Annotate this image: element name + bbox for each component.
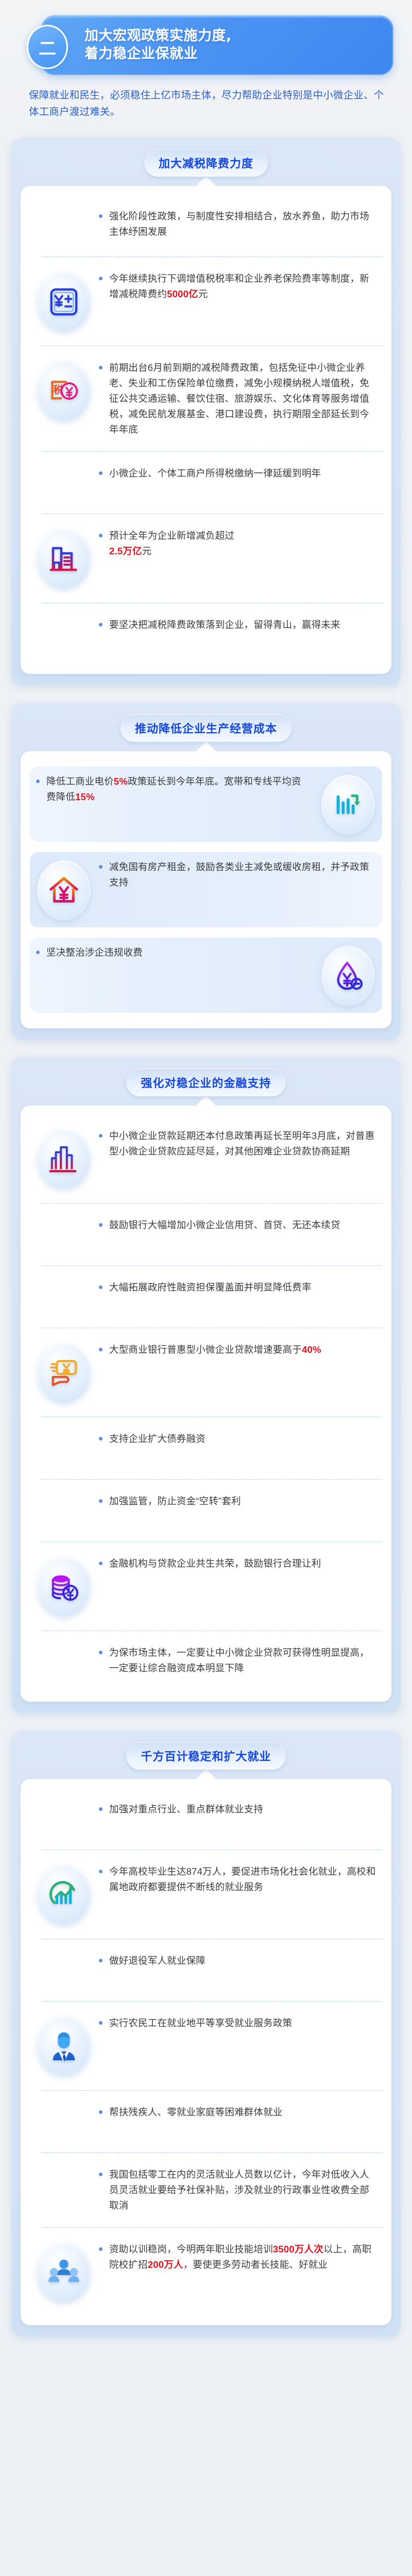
icon-slot (30, 1864, 98, 1925)
section-card: 中小微企业贷款延期还本付息政策再延长至明年3月底，对普惠型小微企业贷款应延尽延，… (21, 1106, 391, 1702)
item-divider (41, 1265, 382, 1266)
tax-yuan-icon: 税 (37, 361, 91, 421)
bullet-text: 要坚决把减税降费政策落到企业，留得青山，赢得未来 (98, 617, 378, 633)
icon-slot (30, 1645, 98, 1679)
growth-arrow-chart-icon (37, 1865, 91, 1925)
highlight-value: 15% (75, 791, 95, 802)
city-buildings-icon (37, 1129, 91, 1189)
icon-slot (30, 859, 98, 920)
bullet-text: 帮扶残疾人、零就业家庭等困难群体就业 (98, 2105, 378, 2120)
item-divider (41, 1939, 382, 1939)
icon-slot (30, 1280, 98, 1314)
icon-slot (30, 1802, 98, 1836)
icon-slot (30, 1494, 98, 1528)
bullet-text: 支持企业扩大债券融资 (98, 1431, 378, 1447)
section-title: 强化对稳企业的金融支持 (126, 1069, 285, 1096)
list-item: 税 前期出台6月前到期的减税降费政策，包括免征中小微企业养老、失业和工伤保险单位… (30, 353, 382, 445)
icon-slot (30, 1128, 98, 1189)
bullet-text-part: 降低工商业电价 (46, 776, 114, 787)
icon-slot (30, 528, 98, 589)
page-title-line1: 加大宏观政策实施力度, (84, 27, 232, 45)
bullet-text: 今年继续执行下调增值税税率和企业养老保险费率等制度，新增减税降费约5000亿元 (98, 271, 378, 302)
list-item: 坚决整治涉企违规收费 (30, 938, 382, 1013)
item-divider (41, 603, 382, 603)
highlight-value: 200万人 (148, 2259, 183, 2270)
droplet-yuan-minus-icon (321, 946, 375, 1006)
list-item: 今年高校毕业生达874万人，要促进市场化社会化就业，高校和属地政府都要提供不断线… (30, 1857, 382, 1932)
section-title: 千方百计稳定和扩大就业 (126, 1742, 285, 1770)
icon-slot (30, 2242, 98, 2302)
bullet-text-main: 大型商业银行普惠型小微企业贷款增速要高于 (109, 1344, 302, 1355)
building-chart-icon (37, 529, 91, 589)
bullet-text: 预计全年为企业新增减负超过2.5万亿元 (98, 528, 378, 559)
bullet-text: 今年高校毕业生达874万人，要促进市场化社会化就业，高校和属地政府都要提供不断线… (98, 1864, 378, 1895)
list-item: 大型商业银行普惠型小微企业贷款增速要高于40% (30, 1335, 382, 1410)
list-item: 中小微企业贷款延期还本付息政策再延长至明年3月底，对普惠型小微企业贷款应延尽延，… (30, 1121, 382, 1196)
card-hand-yuan-icon (37, 1343, 91, 1403)
section-card: 加强对重点行业、重点群体就业支持 (21, 1779, 391, 2325)
icon-slot (30, 271, 98, 332)
icon-slot (30, 2105, 98, 2139)
bullet-text: 强化阶段性政策，与制度性安排相结合，放水养鱼，助力市场主体纾困发展 (98, 209, 378, 240)
item-divider (41, 1850, 382, 1850)
icon-slot (30, 1953, 98, 1987)
list-item: 帮扶残疾人、零就业家庭等困难群体就业 (30, 2097, 382, 2146)
bullet-text: 大型商业银行普惠型小微企业贷款增速要高于40% (98, 1342, 378, 1358)
icon-slot: 税 (30, 360, 98, 421)
item-divider (41, 2153, 382, 2153)
bullet-text-tail: 元 (142, 546, 152, 556)
list-item: 降低工商业电价5%政策延长到今年年底。宽带和专线平均资费降低15% (30, 767, 382, 842)
item-divider (41, 1328, 382, 1328)
header-banner: 加大宏观政策实施力度, 着力稳企业保就业 (41, 15, 393, 75)
bullet-text: 实行农民工在就业地平等享受就业服务政策 (98, 2015, 378, 2031)
intro-paragraph: 保障就业和民生，必须稳住上亿市场主体，尽力帮助企业特别是中小微企业、个体工商户渡… (29, 88, 388, 120)
bullet-text: 我国包括零工在内的灵活就业人员数以亿计，今年对低收入人员灵活就业要给予社保补贴，… (98, 2167, 378, 2213)
list-item: 小微企业、个体工商户所得税缴纳一律延缓到明年 (30, 459, 382, 507)
page-title: 加大宏观政策实施力度, 着力稳企业保就业 (84, 27, 232, 63)
highlight-value: 3500万人次 (273, 2244, 323, 2255)
icon-slot (30, 1342, 98, 1403)
bullet-text: 大幅拓展政府性融资担保覆盖面并明显降低费率 (98, 1280, 378, 1295)
icon-slot (30, 2167, 98, 2201)
section-title: 加大减税降费力度 (144, 149, 268, 177)
page-header: 加大宏观政策实施力度, 着力稳企业保就业 二 (12, 9, 402, 76)
icon-slot (30, 466, 98, 500)
highlight-value: 5000亿 (167, 289, 198, 299)
icon-slot (30, 1431, 98, 1465)
bullet-text-main: 今年继续执行下调增值税税率和企业养老保险费率等制度，新增减税降费约 (109, 273, 369, 299)
icon-slot (30, 209, 98, 243)
bullet-text: 减免国有房产租金，鼓励各类业主减免或缓收房租，并予政策支持 (98, 859, 378, 890)
list-item: 资助以训稳岗，今明两年职业技能培训3500万人次以上，高职院校扩招200万人，要… (30, 2234, 382, 2310)
bullet-text: 坚决整治涉企违规收费 (35, 945, 310, 960)
bar-chart-down-icon (321, 775, 375, 835)
item-divider (41, 1417, 382, 1417)
section-tax-reduction: 加大减税降费力度 强化阶段性政策，与制度性安排相结合，放水养鱼，助力市场主体纾困… (11, 138, 401, 685)
list-item: 为保市场主体，一定要让中小微企业贷款可获得性明显提高，一定要让综合融资成本明显下… (30, 1638, 382, 1686)
bullet-text: 小微企业、个体工商户所得税缴纳一律延缓到明年 (98, 466, 378, 481)
highlight-value: 40% (302, 1344, 321, 1355)
bullet-text-tail: 元 (198, 289, 208, 299)
icon-slot (314, 774, 382, 835)
list-item: 加强监管，防止资金“空转”套利 (30, 1486, 382, 1535)
list-item: 鼓励银行大幅增加小微企业信用贷、首贷、无还本续贷 (30, 1210, 382, 1259)
list-item: 大幅拓展政府性融资担保覆盖面并明显降低费率 (30, 1273, 382, 1321)
list-item: 预计全年为企业新增减负超过2.5万亿元 (30, 521, 382, 596)
highlight-value: 5% (114, 776, 128, 787)
bullet-text: 加强对重点行业、重点群体就业支持 (98, 1802, 378, 1817)
item-divider (41, 257, 382, 257)
item-divider (41, 1479, 382, 1480)
bullet-text: 为保市场主体，一定要让中小微企业贷款可获得性明显提高，一定要让综合融资成本明显下… (98, 1645, 378, 1676)
highlight-value: 2.5万亿 (109, 546, 142, 556)
item-divider (41, 346, 382, 346)
bullet-text: 中小微企业贷款延期还本付息政策再延长至明年3月底，对普惠型小微企业贷款应延尽延，… (98, 1128, 378, 1159)
list-item: 实行农民工在就业地平等享受就业服务政策 (30, 2008, 382, 2083)
bullet-text: 前期出台6月前到期的减税降费政策，包括免征中小微企业养老、失业和工伤保险单位缴费… (98, 360, 378, 437)
bullet-text: 资助以训稳岗，今明两年职业技能培训3500万人次以上，高职院校扩招200万人，要… (98, 2242, 378, 2273)
item-divider (41, 2090, 382, 2091)
item-divider (41, 514, 382, 514)
item-divider (41, 2227, 382, 2228)
icon-slot (30, 1556, 98, 1617)
list-item: 加强对重点行业、重点群体就业支持 (30, 1794, 382, 1843)
section-cost-reduction: 推动降低企业生产经营成本 (11, 703, 401, 1040)
coins-yuan-icon (37, 1557, 91, 1617)
bullet-text-part: ，要使更多劳动者长技能、好就业 (183, 2259, 328, 2270)
item-divider (41, 1203, 382, 1204)
section-title: 推动降低企业生产经营成本 (121, 714, 291, 742)
bullet-text: 做好退役军人就业保障 (98, 1953, 378, 1969)
page-title-line2: 着力稳企业保就业 (84, 45, 232, 63)
bullet-text-main: 预计全年为企业新增减负超过 (109, 530, 234, 541)
house-yuan-icon (37, 860, 91, 920)
list-item: 强化阶段性政策，与制度性安排相结合，放水养鱼，助力市场主体纾困发展 (30, 201, 382, 250)
list-item: 做好退役军人就业保障 (30, 1946, 382, 1994)
list-item: 减免国有房产租金，鼓励各类业主减免或缓收房租，并予政策支持 (30, 852, 382, 927)
section-card: 强化阶段性政策，与制度性安排相结合，放水养鱼，助力市场主体纾困发展 (21, 186, 391, 674)
list-item: 要坚决把减税降费政策落到企业，留得青山，赢得未来 (30, 610, 382, 658)
list-item: 今年继续执行下调增值税税率和企业养老保险费率等制度，新增减税降费约5000亿元 (30, 264, 382, 339)
person-suit-icon (37, 2016, 91, 2076)
item-divider (41, 451, 382, 452)
list-item: 支持企业扩大债券融资 (30, 1424, 382, 1472)
section-employment: 千方百计稳定和扩大就业 加强对重点行业、重点群体就业支持 (11, 1731, 401, 2336)
bullet-text-part: 资助以训稳岗，今明两年职业技能培训 (109, 2244, 273, 2255)
bullet-text: 降低工商业电价5%政策延长到今年年底。宽带和专线平均资费降低15% (35, 774, 310, 805)
item-divider (41, 1541, 382, 1542)
list-item: 我国包括零工在内的灵活就业人员数以亿计，今年对低收入人员灵活就业要给予社保补贴，… (30, 2160, 382, 2221)
section-number-badge: 二 (27, 25, 68, 69)
bullet-text: 加强监管，防止资金“空转”套利 (98, 1494, 378, 1509)
item-divider (41, 2001, 382, 2002)
list-item: 金融机构与贷款企业共生共荣，鼓励银行合理让利 (30, 1549, 382, 1624)
bullet-text: 鼓励银行大幅增加小微企业信用贷、首贷、无还本续贷 (98, 1217, 378, 1233)
item-divider (41, 1631, 382, 1631)
icon-slot (30, 1217, 98, 1251)
infographic-page: 加大宏观政策实施力度, 着力稳企业保就业 二 保障就业和民生，必须稳住上亿市场主… (0, 0, 412, 2576)
section-financial-support: 强化对稳企业的金融支持 (11, 1057, 401, 1713)
icon-slot (30, 617, 98, 651)
bullet-text: 金融机构与贷款企业共生共荣，鼓励银行合理让利 (98, 1556, 378, 1571)
group-people-icon (37, 2243, 91, 2302)
section-card: 降低工商业电价5%政策延长到今年年底。宽带和专线平均资费降低15% (21, 751, 391, 1028)
icon-slot (314, 945, 382, 1006)
icon-slot (30, 2015, 98, 2076)
calculator-yuan-icon (37, 272, 91, 332)
